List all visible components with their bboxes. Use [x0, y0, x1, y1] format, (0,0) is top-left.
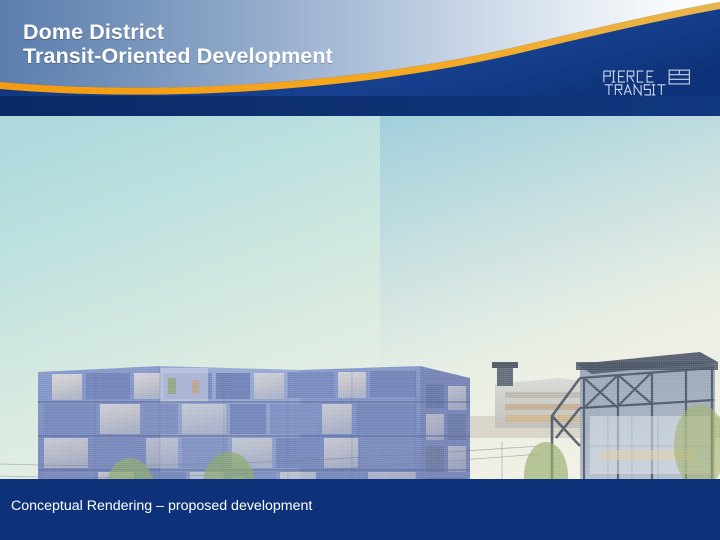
page-title-line-1: Dome District — [23, 20, 333, 44]
atmosphere-overlay — [0, 116, 720, 479]
conceptual-rendering-image — [0, 116, 720, 479]
bus-icon — [669, 70, 689, 84]
slide-header: Dome District Transit-Oriented Developme… — [0, 0, 720, 116]
rendering-artwork — [0, 116, 720, 479]
slide-footer: Conceptual Rendering – proposed developm… — [0, 479, 720, 540]
header-bottom-strip — [0, 96, 720, 116]
page-title: Dome District Transit-Oriented Developme… — [23, 20, 333, 68]
page-title-line-2: Transit-Oriented Development — [23, 44, 333, 68]
presentation-slide: Dome District Transit-Oriented Developme… — [0, 0, 720, 540]
pierce-transit-logo — [602, 68, 694, 98]
rendering-caption: Conceptual Rendering – proposed developm… — [11, 497, 431, 515]
